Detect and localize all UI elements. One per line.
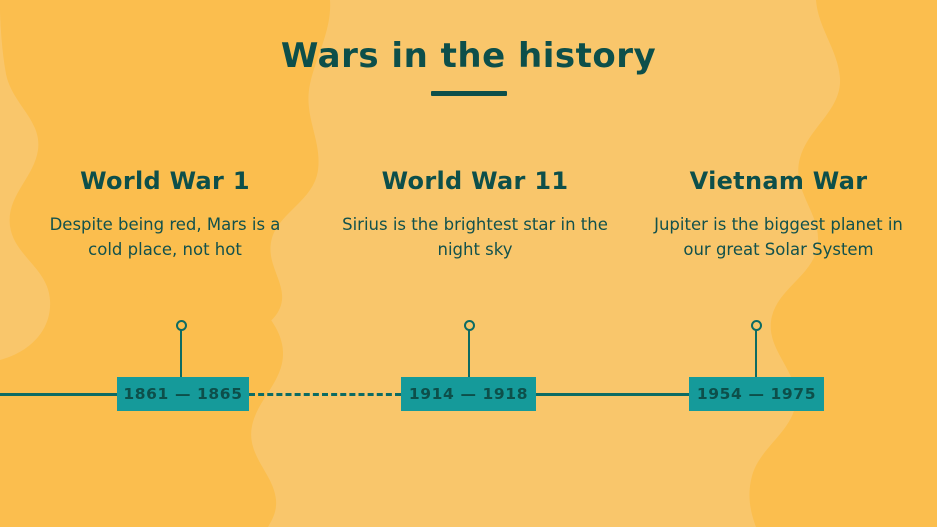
slide-canvas: Wars in the history World War 1 Despite … bbox=[0, 0, 937, 527]
timeline-dot-3 bbox=[751, 320, 762, 331]
timeline-stem-3 bbox=[755, 330, 757, 378]
timeline-marker-label: 1954 — 1975 bbox=[697, 385, 816, 403]
timeline-segment-1-2 bbox=[249, 393, 401, 396]
timeline-dot-1 bbox=[176, 320, 187, 331]
timeline-dot-2 bbox=[464, 320, 475, 331]
timeline-marker-label: 1914 — 1918 bbox=[409, 385, 528, 403]
timeline-stem-2 bbox=[468, 330, 470, 378]
timeline-marker-label: 1861 — 1865 bbox=[123, 385, 242, 403]
timeline: 1861 — 1865 1914 — 1918 1954 — 1975 bbox=[0, 0, 937, 527]
timeline-marker-1954-1975[interactable]: 1954 — 1975 bbox=[689, 377, 824, 411]
timeline-segment-start bbox=[0, 393, 117, 396]
timeline-segment-2-3 bbox=[536, 393, 689, 396]
timeline-marker-1861-1865[interactable]: 1861 — 1865 bbox=[117, 377, 249, 411]
timeline-stem-1 bbox=[180, 330, 182, 378]
timeline-marker-1914-1918[interactable]: 1914 — 1918 bbox=[401, 377, 536, 411]
